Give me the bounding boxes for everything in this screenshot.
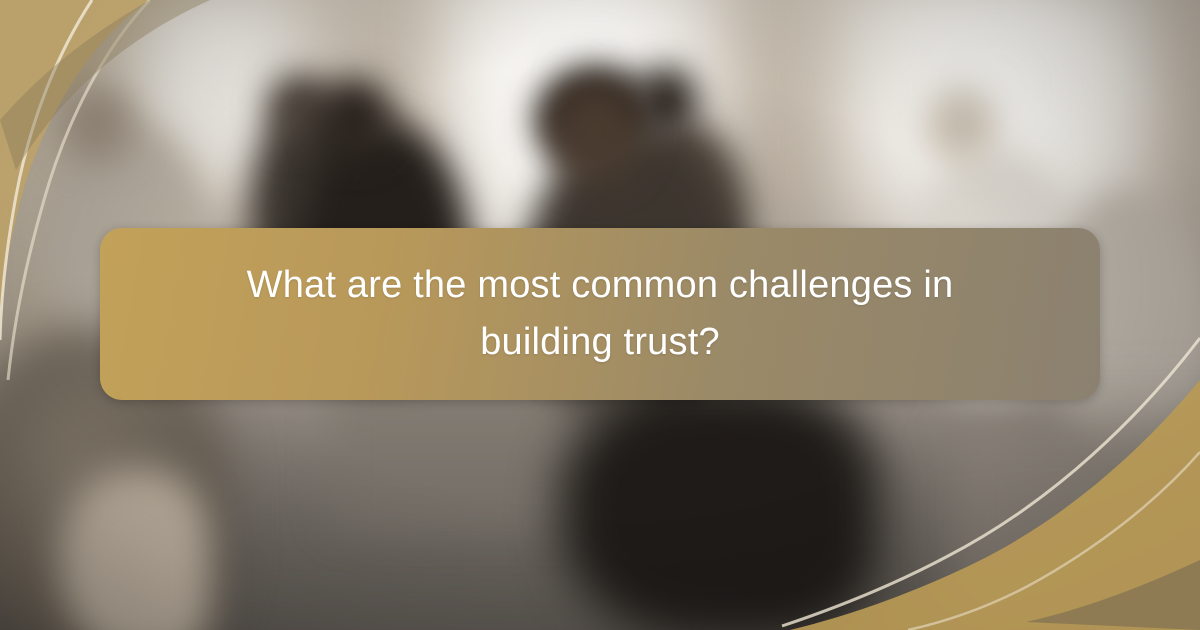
screenshot-canvas: What are the most common challenges in b… — [0, 0, 1200, 630]
caption-card: What are the most common challenges in b… — [100, 228, 1100, 400]
caption-text: What are the most common challenges in b… — [220, 257, 980, 371]
